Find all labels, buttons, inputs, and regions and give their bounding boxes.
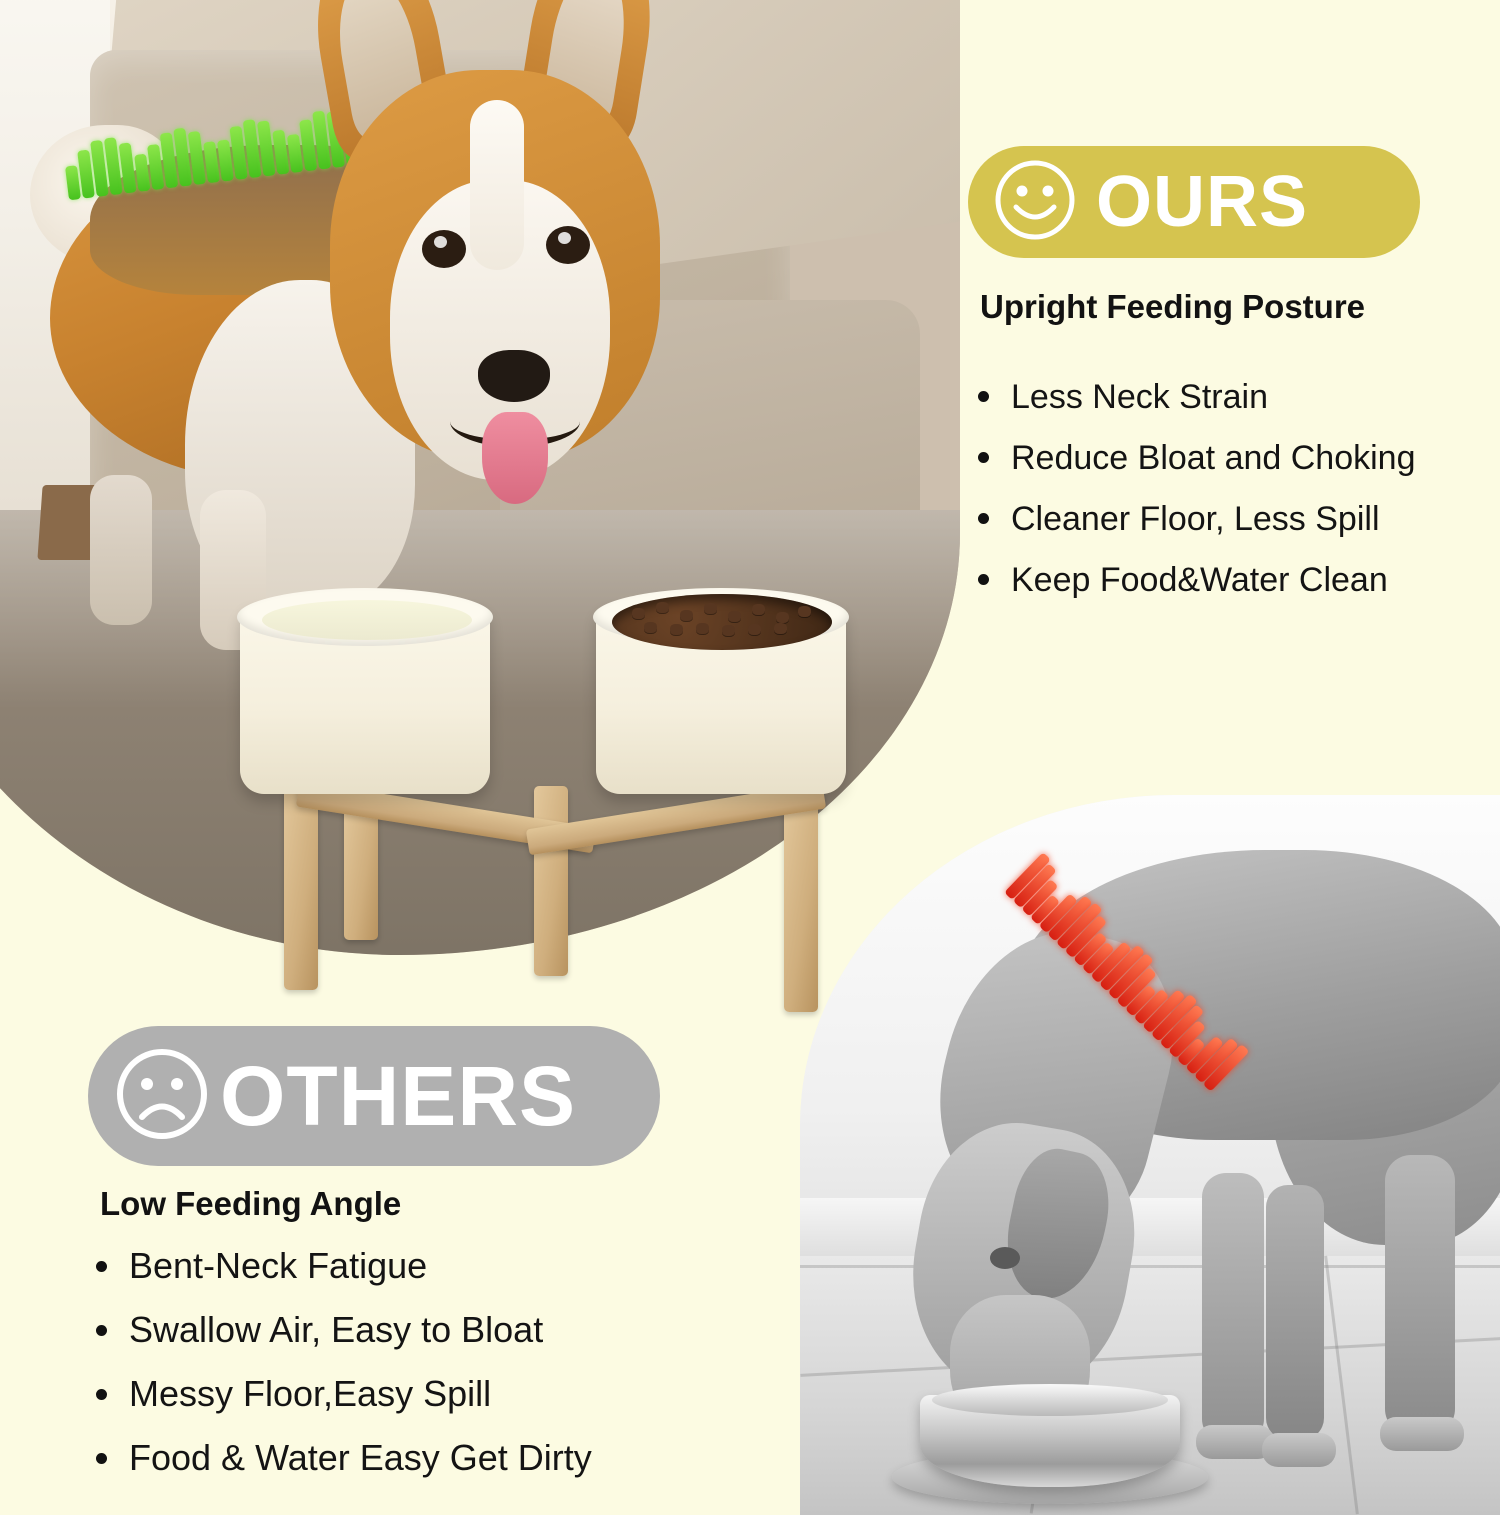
others-badge[interactable]: OTHERS	[88, 1026, 660, 1166]
corgi-dog	[30, 0, 730, 660]
corgi-eye-left	[422, 230, 466, 268]
corgi-forehead-blaze	[470, 100, 524, 270]
bullet-dot-icon	[96, 1389, 107, 1400]
dog-front-leg-near	[1202, 1173, 1264, 1443]
others-heading: Low Feeding Angle	[100, 1185, 401, 1223]
list-item: Food & Water Easy Get Dirty	[96, 1437, 592, 1479]
smiley-face-icon	[992, 157, 1078, 248]
list-item: Bent-Neck Fatigue	[96, 1245, 592, 1287]
stand-leg-back-center	[534, 786, 568, 976]
bullet-dot-icon	[96, 1453, 107, 1464]
dog-paw-hind	[1380, 1417, 1464, 1451]
bullet-dot-icon	[978, 391, 989, 402]
others-bullet-text: Bent-Neck Fatigue	[129, 1245, 427, 1287]
ours-bullet-text: Less Neck Strain	[1011, 378, 1268, 417]
food-bowl	[596, 604, 846, 794]
dog-paw-front-2	[1262, 1433, 1336, 1467]
list-item: Messy Floor,Easy Spill	[96, 1373, 592, 1415]
corgi-eye-left-glint	[434, 236, 447, 248]
kibble-surface	[612, 594, 832, 650]
ours-bullet-text: Cleaner Floor, Less Spill	[1011, 500, 1380, 539]
ours-badge[interactable]: OURS	[968, 146, 1420, 258]
others-drawback-list: Bent-Neck Fatigue Swallow Air, Easy to B…	[96, 1245, 592, 1501]
elevated-bowl-stand	[236, 594, 896, 994]
dog-hind-leg	[1385, 1155, 1455, 1435]
infographic-canvas: OURS Upright Feeding Posture Less Neck S…	[0, 0, 1500, 1500]
list-item: Cleaner Floor, Less Spill	[978, 500, 1416, 539]
ours-bullet-text: Reduce Bloat and Choking	[1011, 439, 1416, 478]
corgi-tongue	[482, 412, 548, 504]
others-bullet-text: Food & Water Easy Get Dirty	[129, 1437, 592, 1479]
corgi-nose	[478, 350, 550, 402]
corgi-eye-right-glint	[558, 232, 571, 244]
list-item: Less Neck Strain	[978, 378, 1416, 417]
bullet-dot-icon	[96, 1325, 107, 1336]
ours-bullet-text: Keep Food&Water Clean	[1011, 561, 1388, 600]
ours-heading: Upright Feeding Posture	[980, 288, 1365, 326]
dog-eye	[990, 1247, 1020, 1269]
others-bullet-text: Messy Floor,Easy Spill	[129, 1373, 491, 1415]
list-item: Keep Food&Water Clean	[978, 561, 1416, 600]
bullet-dot-icon	[96, 1261, 107, 1272]
corgi-eye-right	[546, 226, 590, 264]
others-product-photo	[800, 795, 1500, 1515]
sad-face-icon	[112, 1044, 212, 1149]
bullet-dot-icon	[978, 574, 989, 585]
steel-bowl	[920, 1395, 1180, 1487]
ours-benefit-list: Less Neck Strain Reduce Bloat and Chokin…	[978, 378, 1416, 622]
bullet-dot-icon	[978, 513, 989, 524]
dog-front-leg-far	[1266, 1185, 1324, 1440]
list-item: Swallow Air, Easy to Bloat	[96, 1309, 592, 1351]
others-badge-label: OTHERS	[220, 1054, 576, 1138]
corgi-front-leg-far	[90, 475, 152, 625]
list-item: Reduce Bloat and Choking	[978, 439, 1416, 478]
others-bullet-text: Swallow Air, Easy to Bloat	[129, 1309, 543, 1351]
water-surface	[262, 600, 472, 640]
ours-badge-label: OURS	[1096, 166, 1308, 238]
water-bowl	[240, 604, 490, 794]
bullet-dot-icon	[978, 452, 989, 463]
